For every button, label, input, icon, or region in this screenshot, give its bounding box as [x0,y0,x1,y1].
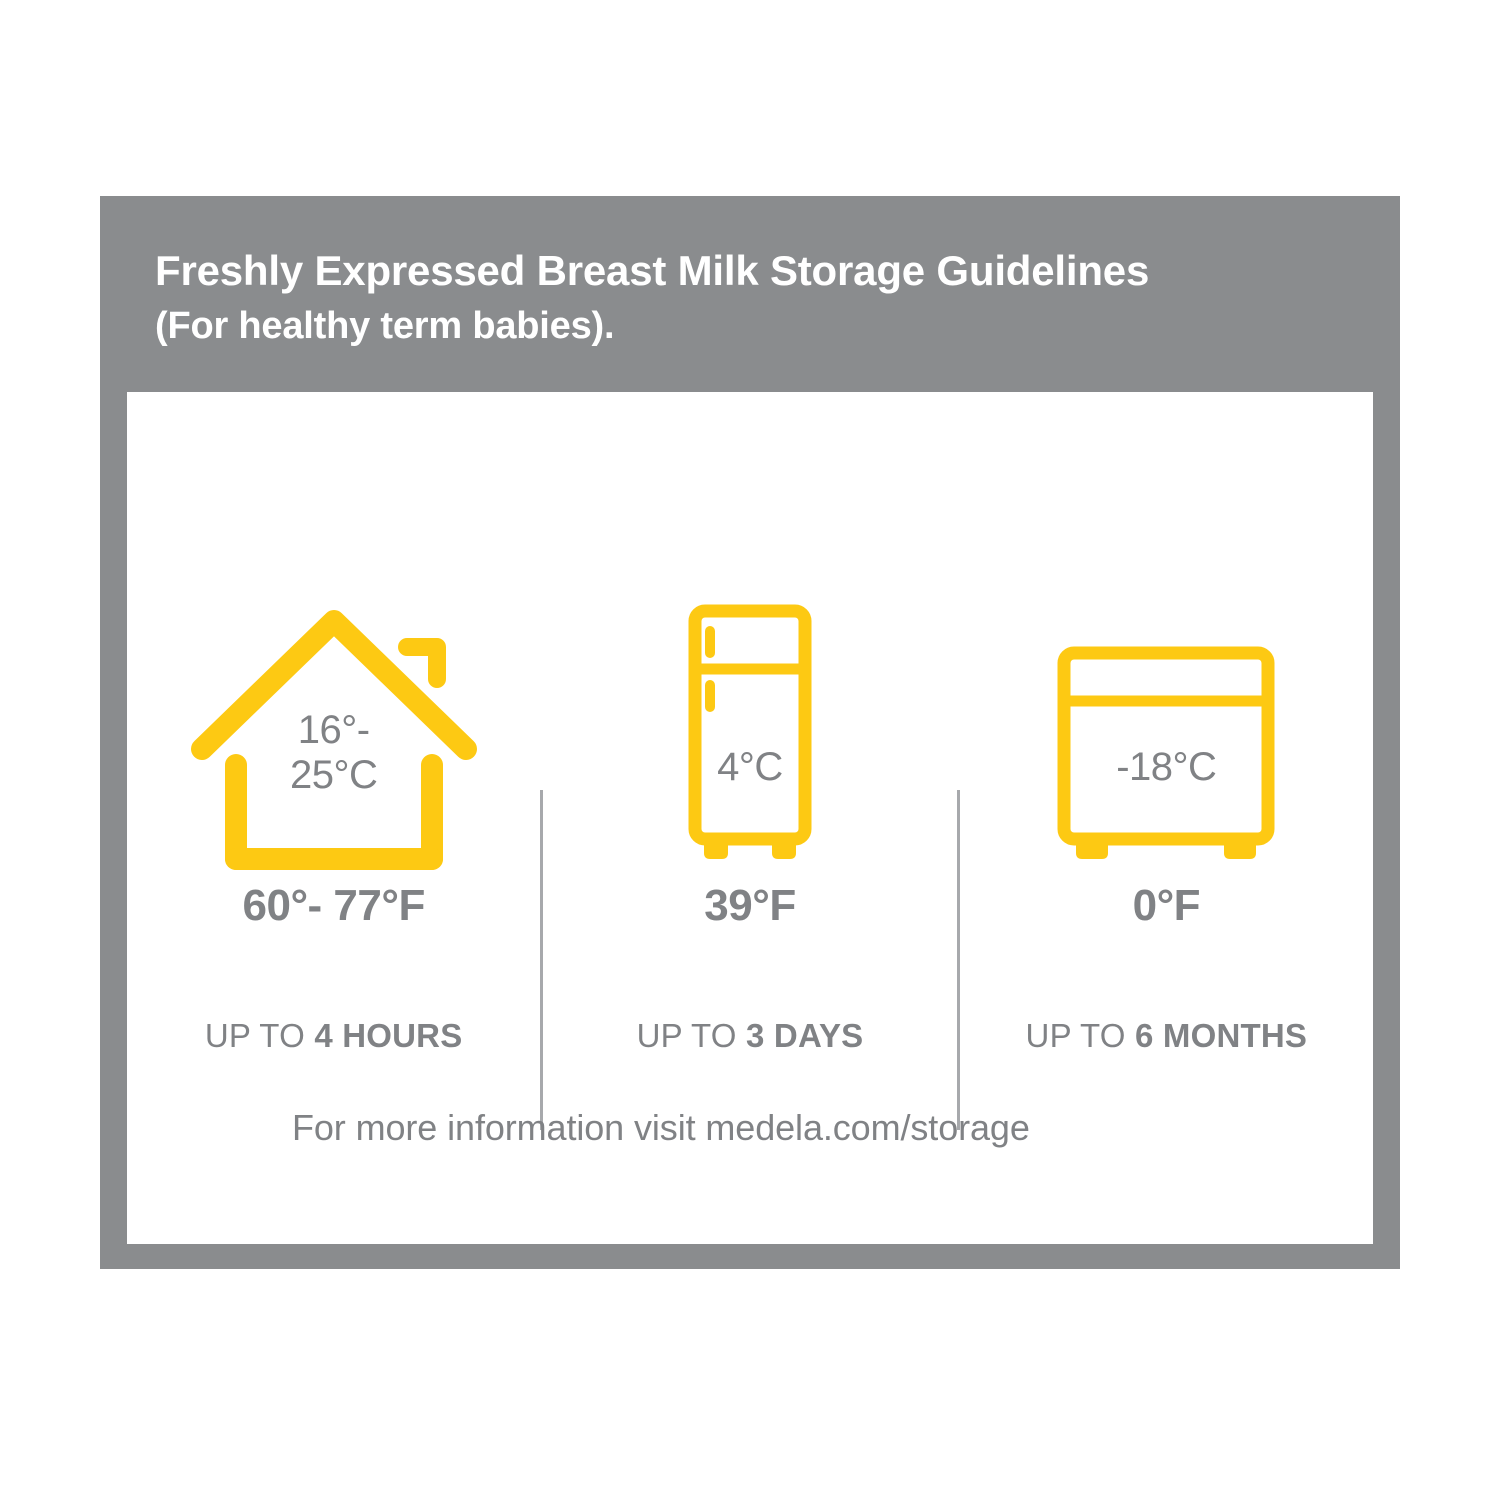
storage-columns: 16°- 25°C 60°- 77°F UP TO 4 HOURS [127,392,1373,1052]
temperature-celsius-room: 16°- 25°C [184,708,484,798]
celsius-line-1: 16°- [298,708,370,752]
celsius-line-1: -18°C [1116,745,1216,789]
page-title: Freshly Expressed Breast Milk Storage Gu… [155,246,1400,296]
refrigerator-icon-wrap: 4°C [600,597,900,867]
content-panel: 16°- 25°C 60°- 77°F UP TO 4 HOURS [127,392,1373,1244]
temperature-celsius-refrigerator: 4°C [600,745,900,790]
duration-freezer: UP TO 6 MONTHS [1026,1017,1308,1055]
celsius-line-1: 4°C [717,745,783,789]
temperature-fahrenheit-freezer: 0°F [1133,881,1200,931]
duration-value: 3 DAYS [746,1017,863,1054]
freezer-icon-wrap: -18°C [1016,597,1316,867]
storage-column-room-temperature: 16°- 25°C 60°- 77°F UP TO 4 HOURS [127,392,540,1052]
duration-value: 4 HOURS [314,1017,462,1054]
infographic-header: Freshly Expressed Breast Milk Storage Gu… [100,196,1400,392]
storage-column-refrigerator: 4°C 39°F UP TO 3 DAYS [543,392,956,1052]
temperature-fahrenheit-room: 60°- 77°F [243,881,425,931]
temperature-celsius-freezer: -18°C [1016,745,1316,790]
duration-prefix: UP TO [205,1017,314,1054]
duration-room-temperature: UP TO 4 HOURS [205,1017,463,1055]
storage-column-freezer: -18°C 0°F UP TO 6 MONTHS [960,392,1373,1052]
storage-guidelines-infographic: Freshly Expressed Breast Milk Storage Gu… [100,196,1400,1269]
house-icon-wrap: 16°- 25°C [184,597,484,867]
duration-prefix: UP TO [637,1017,746,1054]
refrigerator-icon [600,597,900,867]
more-information-text: For more information visit medela.com/st… [292,1107,1030,1148]
temperature-fahrenheit-refrigerator: 39°F [704,881,795,931]
celsius-line-2: 25°C [290,753,377,797]
panel-footer: For more information visit medela.com/st… [127,1107,1373,1149]
freezer-icon [1016,597,1316,867]
duration-prefix: UP TO [1026,1017,1135,1054]
duration-value: 6 MONTHS [1135,1017,1307,1054]
duration-refrigerator: UP TO 3 DAYS [637,1017,864,1055]
page-subtitle: (For healthy term babies). [155,302,1400,351]
